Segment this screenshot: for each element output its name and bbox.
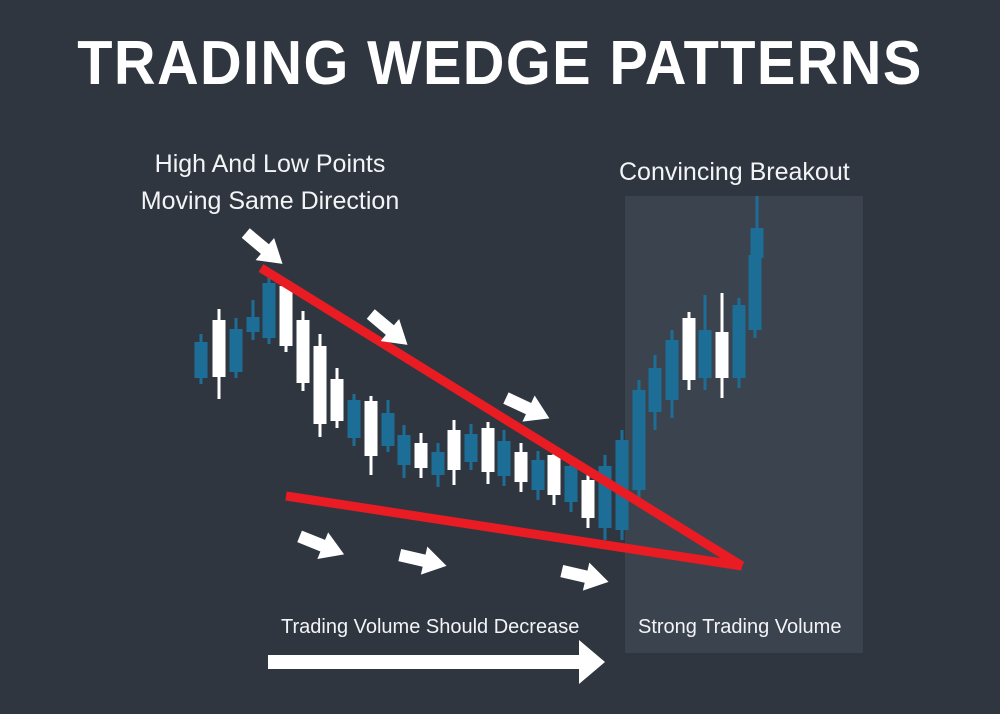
- candle-body: [751, 228, 764, 258]
- candlestick: [213, 309, 226, 399]
- candlestick: [515, 443, 528, 492]
- candle-body: [415, 443, 428, 468]
- arrow-lower-2-icon: [397, 541, 450, 580]
- candlestick: [749, 250, 762, 338]
- candle-body: [565, 466, 578, 502]
- candlestick: [532, 451, 545, 500]
- candle-body: [297, 320, 310, 383]
- candlestick: [448, 420, 461, 485]
- candle-body: [263, 283, 276, 338]
- candlestick: [415, 433, 428, 478]
- candle-body: [716, 332, 729, 378]
- candle-body: [247, 317, 260, 332]
- candle-body: [482, 428, 495, 472]
- candlestick: [599, 455, 612, 540]
- volume-trend-arrow-icon: [268, 640, 605, 684]
- candlestick: [263, 276, 276, 344]
- candle-body: [733, 305, 746, 378]
- candlestick-chart: [0, 0, 1000, 714]
- candlestick: [733, 298, 746, 388]
- candlestick: [498, 430, 511, 486]
- arrow-lower-3-icon: [559, 557, 612, 596]
- candle-body: [230, 329, 243, 372]
- candle-body: [348, 400, 361, 438]
- annotation-high-low-points: High And Low Points Moving Same Directio…: [135, 146, 405, 220]
- candlestick: [331, 368, 344, 428]
- candlestick: [348, 394, 361, 446]
- candle-body: [582, 480, 595, 518]
- candle-body: [532, 460, 545, 490]
- arrow-lower-1-icon: [294, 523, 349, 568]
- annotation-high-low-line2: Moving Same Direction: [135, 183, 405, 220]
- candle-body: [432, 452, 445, 475]
- candle-body: [633, 390, 646, 490]
- candlestick: [633, 380, 646, 500]
- candle-body: [515, 452, 528, 482]
- candlestick: [649, 355, 662, 430]
- candlestick: [247, 300, 260, 340]
- infographic-canvas: TRADING WEDGE PATTERNS High And Low Poin…: [0, 0, 1000, 714]
- annotation-high-low-line1: High And Low Points: [135, 146, 405, 183]
- candlestick: [699, 295, 712, 390]
- candlestick: [432, 443, 445, 487]
- candle-body: [331, 379, 344, 421]
- candlestick: [297, 311, 310, 391]
- candlestick: [314, 334, 327, 437]
- candles-layer: [195, 196, 764, 540]
- candle-body: [699, 330, 712, 378]
- candle-body: [465, 434, 478, 462]
- candle-body: [548, 455, 561, 495]
- candle-body: [280, 286, 293, 346]
- candle-body: [666, 340, 679, 400]
- candle-body: [213, 320, 226, 377]
- candlestick: [465, 424, 478, 470]
- annotation-convincing-breakout: Convincing Breakout: [619, 158, 850, 187]
- candlestick: [666, 330, 679, 418]
- annotation-strong-volume: Strong Trading Volume: [638, 616, 841, 639]
- candlestick: [398, 425, 411, 478]
- candlestick: [482, 422, 495, 484]
- trendline-lower-support: [286, 496, 742, 566]
- candlestick: [683, 312, 696, 390]
- candle-body: [498, 441, 511, 476]
- candlestick: [230, 318, 243, 378]
- candle-body: [195, 342, 208, 378]
- candle-body: [314, 346, 327, 424]
- candle-body: [649, 368, 662, 412]
- volume-trend-arrow: [268, 640, 605, 684]
- candlestick: [365, 396, 378, 475]
- candlestick: [195, 334, 208, 384]
- candle-body: [749, 255, 762, 330]
- candle-body: [398, 435, 411, 465]
- candle-body: [683, 318, 696, 380]
- candlestick: [716, 293, 729, 398]
- candle-body: [382, 413, 395, 446]
- annotation-volume-decrease: Trading Volume Should Decrease: [281, 616, 579, 639]
- candlestick: [382, 400, 395, 452]
- candle-body: [448, 430, 461, 470]
- candle-body: [365, 401, 378, 456]
- candlestick: [751, 196, 764, 262]
